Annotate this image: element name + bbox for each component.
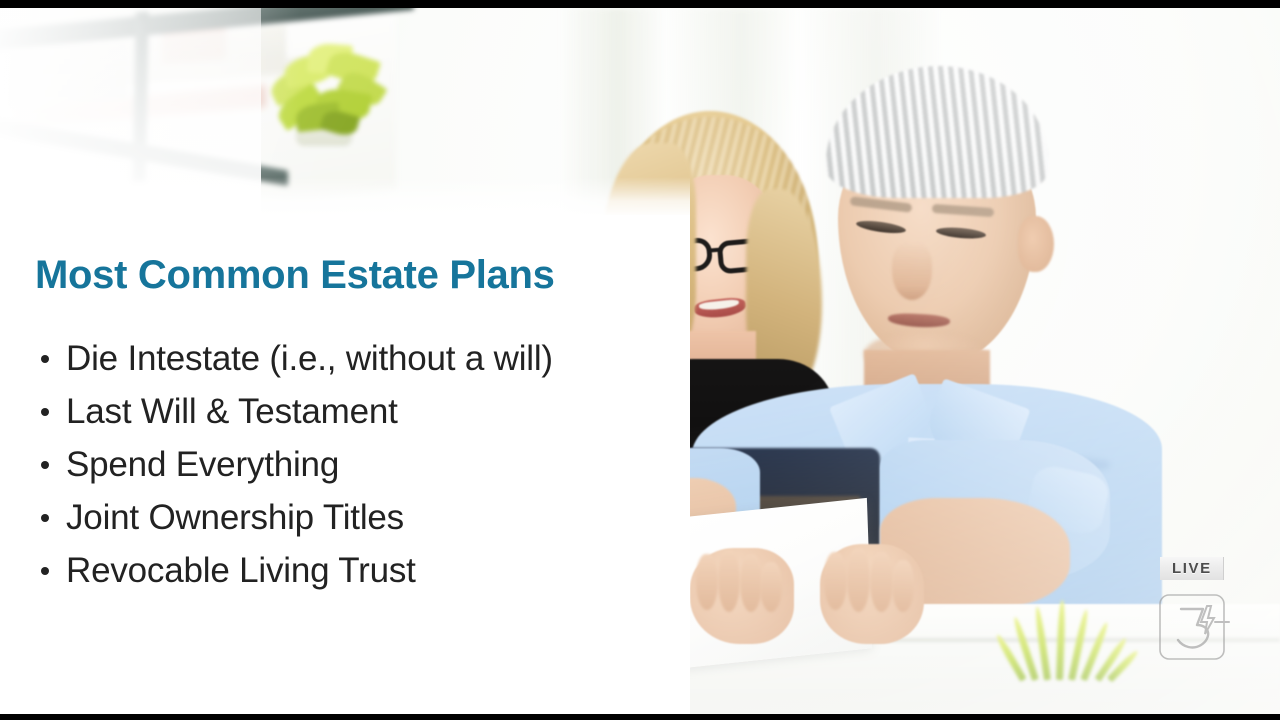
man-left-hand	[690, 548, 794, 644]
man-ear	[1018, 216, 1054, 272]
channel-5-plus-logo-icon	[1157, 592, 1233, 668]
letterbox-bottom	[0, 714, 1280, 720]
man-nose	[892, 242, 932, 300]
potted-plant-bottom	[1010, 600, 1160, 680]
broadcast-frame: Most Common Estate Plans Die Intestate (…	[0, 0, 1280, 720]
bullet-dot-icon	[41, 408, 49, 416]
bullet-dot-icon	[41, 461, 49, 469]
list-item: Revocable Living Trust	[38, 544, 658, 597]
live-badge: LIVE	[1160, 557, 1224, 580]
bullet-list: Die Intestate (i.e., without a will) Las…	[38, 332, 658, 597]
slide-title: Most Common Estate Plans	[35, 253, 555, 298]
bullet-dot-icon	[41, 355, 49, 363]
man-right-hand	[820, 544, 924, 644]
list-item-label: Die Intestate (i.e., without a will)	[66, 339, 553, 378]
list-item-label: Last Will & Testament	[66, 392, 398, 431]
list-item-label: Revocable Living Trust	[66, 551, 416, 590]
man-hair	[826, 66, 1048, 198]
bullet-dot-icon	[41, 514, 49, 522]
bullet-dot-icon	[41, 567, 49, 575]
list-item: Joint Ownership Titles	[38, 491, 658, 544]
list-item-label: Spend Everything	[66, 445, 339, 484]
list-item: Last Will & Testament	[38, 385, 658, 438]
list-item: Die Intestate (i.e., without a will)	[38, 332, 658, 385]
panel-left-fade	[0, 8, 261, 219]
list-item: Spend Everything	[38, 438, 658, 491]
list-item-label: Joint Ownership Titles	[66, 498, 404, 537]
letterbox-top	[0, 0, 1280, 8]
presentation-slide: Most Common Estate Plans Die Intestate (…	[0, 8, 1280, 714]
potted-plant-top	[262, 42, 386, 148]
